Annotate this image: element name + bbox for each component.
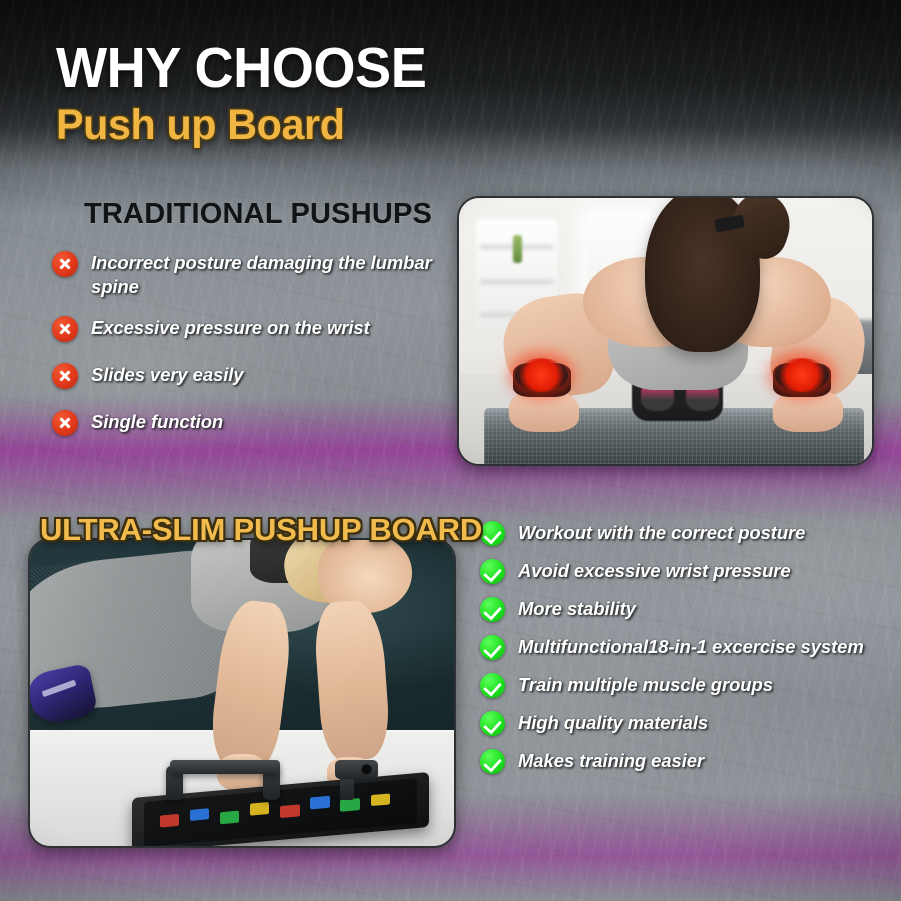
board-slot-red: [160, 814, 179, 827]
green-check-icon: [480, 635, 505, 660]
list-item-label: Makes training easier: [518, 748, 704, 773]
board-slot-blue: [190, 808, 209, 821]
pros-list: Workout with the correct posture Avoid e…: [480, 520, 885, 786]
list-item: Workout with the correct posture: [480, 520, 885, 546]
green-check-icon: [480, 673, 505, 698]
bottle-prop: [513, 235, 522, 263]
green-check-icon: [480, 711, 505, 736]
list-item-label: Multifunctional18-in-1 excercise system: [518, 634, 864, 659]
red-x-icon: [52, 316, 78, 342]
green-check-icon: [480, 597, 505, 622]
list-item: Avoid excessive wrist pressure: [480, 558, 885, 584]
list-item-label: Train multiple muscle groups: [518, 672, 773, 697]
list-item: Incorrect posture damaging the lumbar sp…: [52, 250, 452, 299]
board-side-grip: [335, 760, 377, 778]
list-item: More stability: [480, 596, 885, 622]
green-check-icon: [480, 521, 505, 546]
red-x-icon: [52, 410, 78, 436]
ultra-slim-board-heading: ULTRA-SLIM PUSHUP BOARD: [40, 512, 482, 548]
green-check-icon: [480, 559, 505, 584]
green-check-icon: [480, 749, 505, 774]
list-item-label: Slides very easily: [91, 362, 243, 387]
title-line-secondary: Push up Board: [56, 101, 430, 149]
red-x-icon: [52, 251, 78, 277]
traditional-pushup-photo: [457, 196, 874, 466]
list-item: Multifunctional18-in-1 excercise system: [480, 634, 885, 660]
list-item-label: Workout with the correct posture: [518, 520, 805, 545]
title-line-primary: WHY CHOOSE: [56, 38, 426, 98]
board-slot-red: [280, 804, 299, 817]
red-x-icon: [52, 363, 78, 389]
list-item-label: Single function: [91, 409, 223, 434]
list-item: High quality materials: [480, 710, 885, 736]
list-item: Slides very easily: [52, 362, 452, 389]
traditional-pushups-heading: TRADITIONAL PUSHUPS: [84, 198, 432, 231]
board-handle-bar: [170, 760, 280, 774]
list-item-label: High quality materials: [518, 710, 708, 735]
board-slot-blue: [310, 795, 329, 808]
page-title: WHY CHOOSE Push up Board: [56, 38, 446, 149]
infographic-canvas: WHY CHOOSE Push up Board TRADITIONAL PUS…: [0, 0, 901, 901]
list-item-label: Excessive pressure on the wrist: [91, 315, 370, 340]
board-slot-green: [220, 810, 239, 823]
list-item: Excessive pressure on the wrist: [52, 315, 452, 342]
pushup-board-photo: [28, 538, 456, 848]
wrist-pain-marker-right: [775, 358, 829, 393]
cons-list: Incorrect posture damaging the lumbar sp…: [52, 250, 452, 456]
list-item-label: More stability: [518, 596, 636, 621]
list-item-label: Incorrect posture damaging the lumbar sp…: [91, 250, 452, 299]
list-item: Makes training easier: [480, 748, 885, 774]
board-slot-yellow: [250, 802, 269, 815]
list-item: Train multiple muscle groups: [480, 672, 885, 698]
list-item: Single function: [52, 409, 452, 436]
board-slot-green: [340, 798, 359, 811]
board-slot-yellow: [370, 793, 389, 806]
list-item-label: Avoid excessive wrist pressure: [518, 558, 791, 583]
